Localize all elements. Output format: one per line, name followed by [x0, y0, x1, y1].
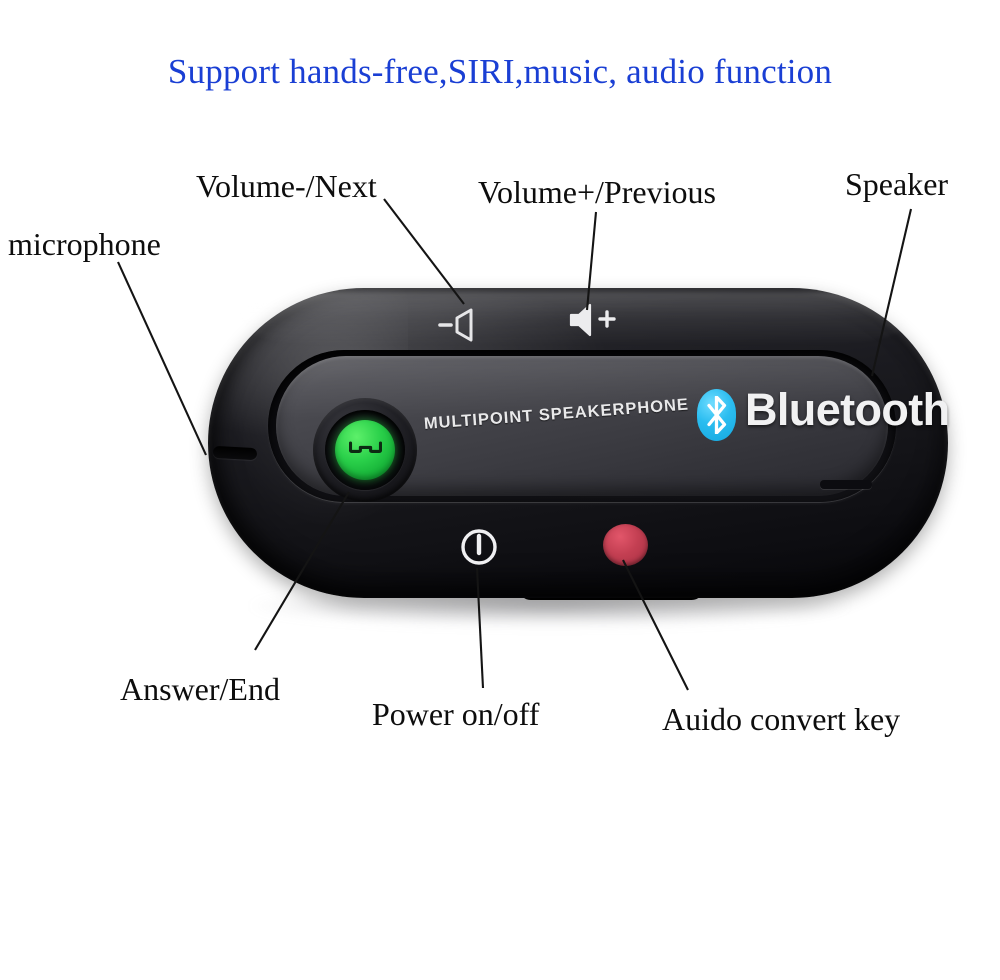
callout-label-audio-convert-key: Auido convert key [662, 703, 900, 735]
callout-label-volume-up-previous: Volume+/Previous [478, 176, 716, 208]
bluetooth-wordmark: Bluetooth [745, 387, 950, 432]
callout-label-volume-down-next: Volume-/Next [196, 170, 377, 202]
audio-convert-indicator[interactable] [603, 524, 648, 566]
volume-up-icon [568, 303, 626, 337]
callout-label-microphone: microphone [8, 228, 161, 260]
diagram-canvas: Support hands-free,SIRI,music, audio fun… [0, 0, 1000, 980]
microphone-slot [213, 446, 258, 460]
bluetooth-rune-icon [706, 396, 727, 434]
callout-label-answer-end: Answer/End [120, 673, 280, 705]
volume-down-icon [436, 308, 492, 342]
phone-handset-icon [349, 441, 382, 456]
callout-label-power-on-off: Power on/off [372, 698, 539, 730]
power-icon [459, 527, 499, 567]
charging-port [820, 480, 872, 489]
product-illustration: MULTIPOINT SPEAKERPHONE Bluetooth [0, 0, 1000, 980]
callout-label-speaker: Speaker [845, 168, 948, 200]
